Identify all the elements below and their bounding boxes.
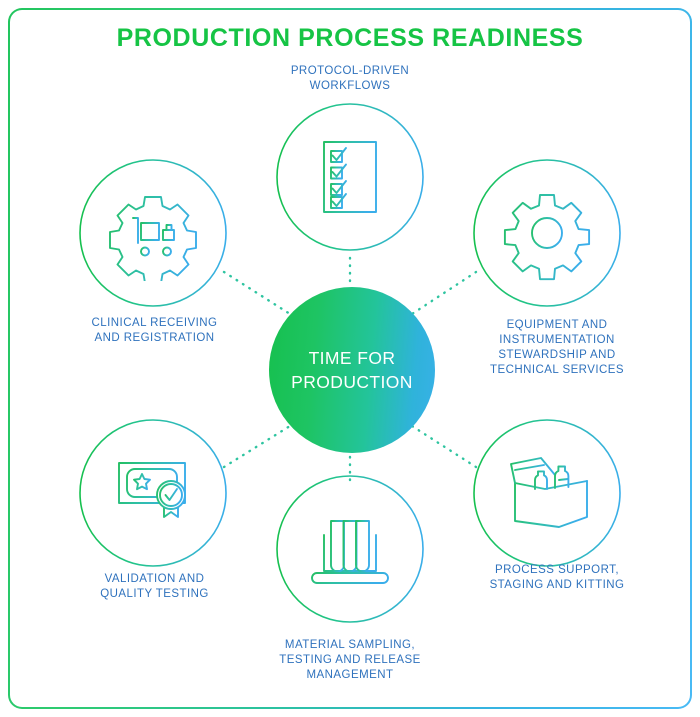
checklist-clipboard-icon bbox=[302, 129, 398, 225]
node-label-clinical: CLINICAL RECEIVING AND REGISTRATION bbox=[52, 316, 257, 346]
node-equipment[interactable] bbox=[472, 158, 622, 308]
node-protocol[interactable] bbox=[275, 102, 425, 252]
certificate-seal-icon bbox=[105, 445, 201, 541]
node-label-material: MATERIAL SAMPLING, TESTING AND RELEASE M… bbox=[250, 638, 450, 683]
hub-circle[interactable]: TIME FOR PRODUCTION bbox=[269, 287, 435, 453]
node-process[interactable] bbox=[472, 418, 622, 568]
node-validation[interactable] bbox=[78, 418, 228, 568]
node-label-process: PROCESS SUPPORT, STAGING AND KITTING bbox=[462, 563, 652, 593]
infographic-canvas: PRODUCTION PROCESS READINESS TIME F bbox=[0, 0, 700, 717]
page-title: PRODUCTION PROCESS READINESS bbox=[0, 24, 700, 53]
node-label-validation: VALIDATION AND QUALITY TESTING bbox=[52, 572, 257, 602]
node-label-protocol: PROTOCOL-DRIVEN WORKFLOWS bbox=[250, 64, 450, 94]
open-box-with-bottles-icon bbox=[499, 445, 595, 541]
node-clinical[interactable] bbox=[78, 158, 228, 308]
hub-label: TIME FOR PRODUCTION bbox=[291, 346, 413, 394]
gear-icon bbox=[499, 185, 595, 281]
node-material[interactable] bbox=[275, 474, 425, 624]
gear-with-cart-icon bbox=[105, 185, 201, 281]
node-label-equipment: EQUIPMENT AND INSTRUMENTATION STEWARDSHI… bbox=[462, 318, 652, 378]
test-tubes-rack-icon bbox=[302, 501, 398, 597]
